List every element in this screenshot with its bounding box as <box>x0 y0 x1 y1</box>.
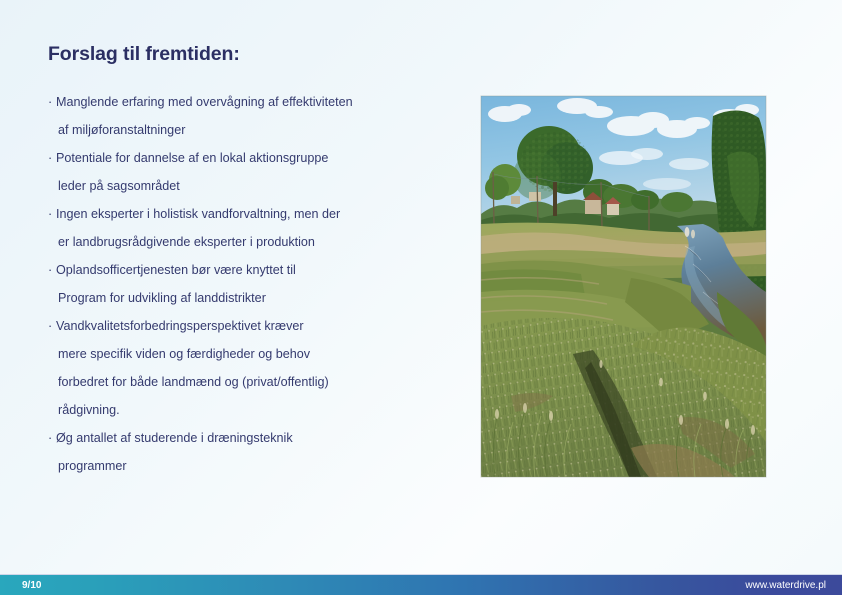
list-item: ·Manglende erfaring med overvågning af e… <box>48 88 468 144</box>
list-item-label: rådgivning. <box>58 403 120 417</box>
list-item: ·Vandkvalitetsforbedringsperspektivet kr… <box>48 312 468 424</box>
photo-illustration <box>481 96 766 477</box>
list-item-wrapped-line: af miljøforanstaltninger <box>48 116 468 144</box>
list-item-wrapped-line: er landbrugsrådgivende eksperter i produ… <box>48 228 468 256</box>
bullet-dot-icon: · <box>48 200 56 228</box>
list-item-first-line: ·Manglende erfaring med overvågning af e… <box>48 88 468 116</box>
list-item-wrapped-line: rådgivning. <box>48 396 468 424</box>
list-item: ·Potentiale for dannelse af en lokal akt… <box>48 144 468 200</box>
list-item-first-line: ·Øg antallet af studerende i dræningstek… <box>48 424 468 452</box>
list-item-label: mere specifik viden og færdigheder og be… <box>58 347 310 361</box>
footer-url: www.waterdrive.pl <box>745 575 826 595</box>
list-item-label: af miljøforanstaltninger <box>58 123 185 137</box>
page-number: 9/10 <box>22 575 41 595</box>
bullet-dot-icon: · <box>48 312 56 340</box>
presentation-slide: Forslag til fremtiden: ·Manglende erfari… <box>0 0 842 595</box>
bullet-dot-icon: · <box>48 424 56 452</box>
list-item-wrapped-line: Program for udvikling af landdistrikter <box>48 284 468 312</box>
list-item-first-line: ·Ingen eksperter i holistisk vandforvalt… <box>48 200 468 228</box>
list-item-wrapped-line: programmer <box>48 452 468 480</box>
list-item-label: Ingen eksperter i holistisk vandforvaltn… <box>56 207 340 221</box>
list-item-label: Manglende erfaring med overvågning af ef… <box>56 95 353 109</box>
bullet-dot-icon: · <box>48 88 56 116</box>
list-item-label: Potentiale for dannelse af en lokal akti… <box>56 151 328 165</box>
list-item: ·Øg antallet af studerende i dræningstek… <box>48 424 468 480</box>
list-item-wrapped-line: leder på sagsområdet <box>48 172 468 200</box>
list-item: ·Oplandsofficertjenesten bør være knytte… <box>48 256 468 312</box>
list-item-first-line: ·Vandkvalitetsforbedringsperspektivet kr… <box>48 312 468 340</box>
list-item-label: Vandkvalitetsforbedringsperspektivet kræ… <box>56 319 304 333</box>
bullet-dot-icon: · <box>48 256 56 284</box>
rural-river-landscape-photo <box>481 96 766 477</box>
list-item-label: Program for udvikling af landdistrikter <box>58 291 266 305</box>
list-item-label: er landbrugsrådgivende eksperter i produ… <box>58 235 315 249</box>
bullet-list: ·Manglende erfaring med overvågning af e… <box>48 88 468 480</box>
list-item-first-line: ·Oplandsofficertjenesten bør være knytte… <box>48 256 468 284</box>
list-item-label: leder på sagsområdet <box>58 179 180 193</box>
list-item: ·Ingen eksperter i holistisk vandforvalt… <box>48 200 468 256</box>
list-item-wrapped-line: forbedret for både landmænd og (privat/o… <box>48 368 468 396</box>
list-item-first-line: ·Potentiale for dannelse af en lokal akt… <box>48 144 468 172</box>
bullet-dot-icon: · <box>48 144 56 172</box>
list-item-label: Øg antallet af studerende i dræningstekn… <box>56 431 293 445</box>
list-item-label: forbedret for både landmænd og (privat/o… <box>58 375 329 389</box>
list-item-label: Oplandsofficertjenesten bør være knyttet… <box>56 263 296 277</box>
page-title: Forslag til fremtiden: <box>48 43 240 66</box>
list-item-label: programmer <box>58 459 127 473</box>
list-item-wrapped-line: mere specifik viden og færdigheder og be… <box>48 340 468 368</box>
footer-bar: 9/10 www.waterdrive.pl <box>0 574 842 595</box>
